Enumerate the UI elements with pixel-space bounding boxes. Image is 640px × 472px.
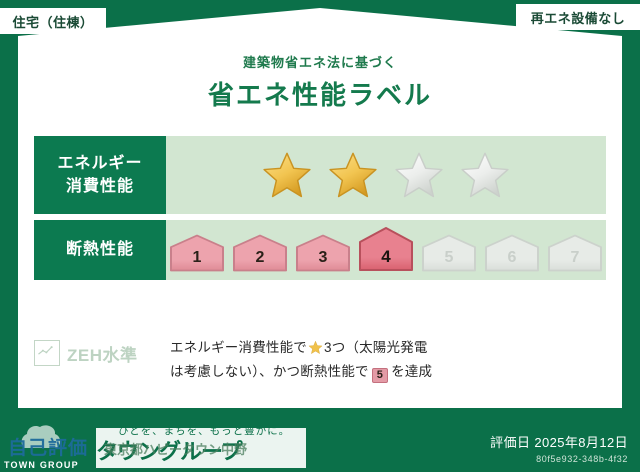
insulation-step-3: 3 xyxy=(294,233,352,273)
insulation-step-label: 7 xyxy=(571,249,580,273)
insulation-step-label: 3 xyxy=(319,249,328,273)
row-label-energy-consumption: エネルギー 消費性能 xyxy=(34,136,166,214)
insulation-step-label: 6 xyxy=(508,249,517,273)
insulation-step-label: 5 xyxy=(445,249,454,273)
metric-rows: エネルギー 消費性能 断熱性能 1234567 xyxy=(34,136,606,286)
evaluation-id: 80f5e932-348b-4f32 xyxy=(490,454,628,464)
insulation-step-label: 1 xyxy=(193,249,202,273)
town-group-logo: TOWN GROUP xyxy=(4,460,79,470)
row-insulation: 断熱性能 1234567 xyxy=(34,220,606,280)
star-empty-icon xyxy=(459,150,511,200)
insulation-step-6: 6 xyxy=(483,233,541,273)
label-title: 省エネ性能ラベル xyxy=(0,75,640,112)
zeh-text-part1: エネルギー消費性能で xyxy=(170,340,307,355)
zeh-badge: ZEH水準 xyxy=(34,336,170,366)
row-body-energy-consumption xyxy=(166,136,606,214)
zeh-description: エネルギー消費性能で3つ（太陽光発電 は考慮しない）、かつ断熱性能で5を達成 xyxy=(170,336,432,383)
zeh-text-part3: は考慮しない）、かつ断熱性能で xyxy=(170,364,369,379)
star-filled-icon xyxy=(261,150,313,200)
insulation-step-5: 5 xyxy=(420,233,478,273)
row-label-line2: 消費性能 xyxy=(66,175,134,198)
zeh-note: ZEH水準 エネルギー消費性能で3つ（太陽光発電 は考慮しない）、かつ断熱性能で… xyxy=(34,336,606,383)
star-filled-icon xyxy=(327,150,379,200)
energy-performance-label: 住宅（住棟） 再エネ設備なし 建築物省エネ法に基づく 省エネ性能ラベル エネルギ… xyxy=(0,0,640,472)
badge-building-type: 住宅（住棟） xyxy=(0,8,106,34)
row-label-line1: エネルギー xyxy=(57,152,142,175)
title-block: 建築物省エネ法に基づく 省エネ性能ラベル xyxy=(0,52,640,112)
row-label-line1: 断熱性能 xyxy=(66,238,134,261)
zeh-level-chip: 5 xyxy=(372,368,388,383)
insulation-step-label: 4 xyxy=(381,247,390,273)
label-footer: 評価日 2025年8月12日 80f5e932-348b-4f32 ひとを、まち… xyxy=(0,408,640,472)
star-empty-icon xyxy=(393,150,445,200)
watermark-overlay-text2: 東京都ハピータウン中野 xyxy=(104,439,247,458)
star-icon xyxy=(308,339,323,354)
insulation-step-label: 2 xyxy=(256,249,265,273)
watermark-overlay: ひとを、まちを、もっと豊かに。 タウングループ 東京都ハピータウン中野 自己評価… xyxy=(0,416,330,472)
insulation-step-2: 2 xyxy=(231,233,289,273)
badge-renewable-energy: 再エネ設備なし xyxy=(516,4,640,30)
evaluation-info: 評価日 2025年8月12日 80f5e932-348b-4f32 xyxy=(490,432,628,464)
zeh-badge-label: ZEH水準 xyxy=(67,341,138,366)
zeh-text-part4: を達成 xyxy=(391,364,432,379)
row-body-insulation: 1234567 xyxy=(166,220,606,280)
star-rating-group xyxy=(261,150,511,200)
row-energy-consumption: エネルギー 消費性能 xyxy=(34,136,606,214)
insulation-step-4: 4 xyxy=(357,225,415,273)
watermark-overlay-text: 自己評価 xyxy=(8,433,88,460)
evaluation-date: 評価日 2025年8月12日 xyxy=(490,432,628,451)
insulation-step-1: 1 xyxy=(168,233,226,273)
insulation-step-7: 7 xyxy=(546,233,604,273)
label-subtitle: 建築物省エネ法に基づく xyxy=(0,52,640,71)
row-label-insulation: 断熱性能 xyxy=(34,220,166,280)
zeh-text-part2: 3つ（太陽光発電 xyxy=(324,340,428,355)
zeh-chart-icon xyxy=(34,340,60,366)
house-scale-group: 1234567 xyxy=(168,221,604,279)
